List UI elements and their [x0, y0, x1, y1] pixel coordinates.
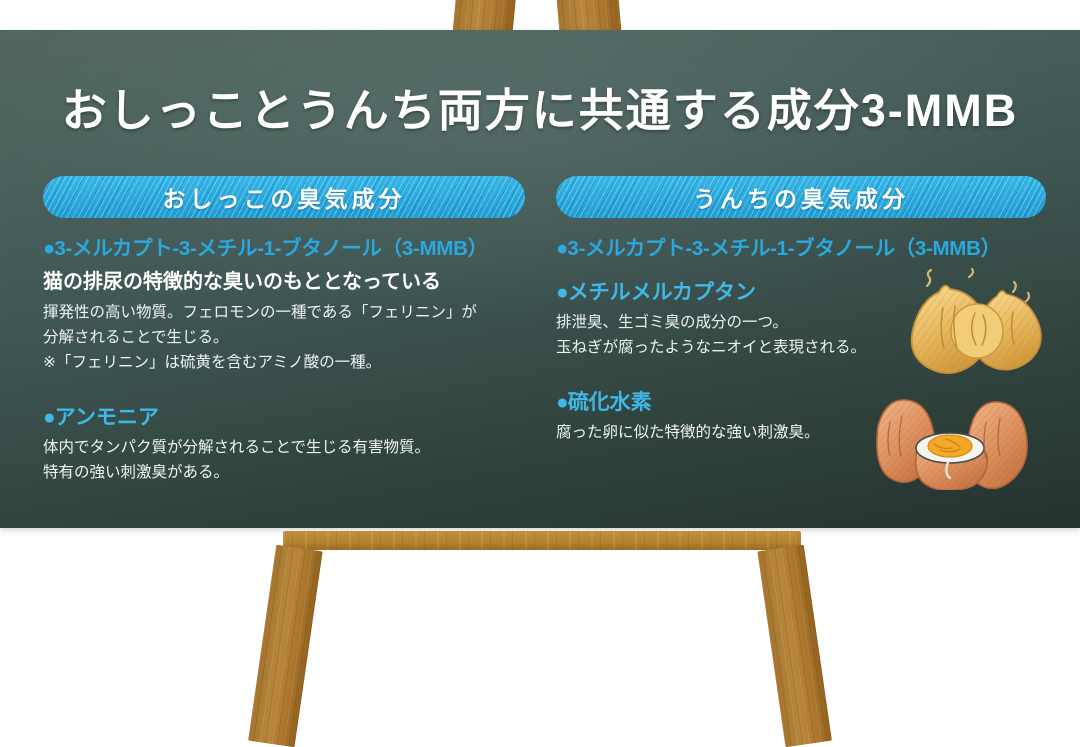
entry-urine-mmb-lede: 猫の排尿の特徴的な臭いのもととなっている — [43, 269, 525, 296]
banner-urine: おしっこの臭気成分 — [43, 176, 525, 218]
entry-feces-mmb: ●3-メルカプト-3-メチル-1-ブタノール（3-MMB） — [556, 236, 1046, 262]
entry-urine-mmb: ●3-メルカプト-3-メチル-1-ブタノール（3-MMB） 猫の排尿の特徴的な臭… — [43, 236, 525, 375]
banner-feces: うんちの臭気成分 — [556, 176, 1046, 218]
entry-urine-ammonia-name: アンモニア — [55, 406, 159, 429]
bullet-icon: ● — [43, 237, 54, 260]
entry-urine-mmb-title: ●3-メルカプト-3-メチル-1-ブタノール（3-MMB） — [43, 236, 525, 262]
bullet-icon: ● — [556, 281, 568, 304]
easel-crossbar — [283, 531, 801, 550]
entry-urine-mmb-name: 3-メルカプト-3-メチル-1-ブタノール（3-MMB） — [54, 237, 487, 260]
banner-feces-label: うんちの臭気成分 — [693, 180, 909, 214]
entry-feces-mmb-title: ●3-メルカプト-3-メチル-1-ブタノール（3-MMB） — [556, 236, 1046, 262]
easel-leg-right — [757, 545, 832, 747]
body-line: 特有の強い刺激臭がある。 — [43, 460, 525, 485]
body-line: 体内でタンパク質が分解されることで生じる有害物質。 — [43, 435, 525, 460]
bullet-icon: ● — [556, 237, 567, 260]
entry-feces-mmb-name: 3-メルカプト-3-メチル-1-ブタノール（3-MMB） — [567, 237, 1000, 260]
banner-urine-label: おしっこの臭気成分 — [163, 180, 406, 214]
bullet-icon: ● — [556, 391, 568, 414]
column-urine: おしっこの臭気成分 ●3-メルカプト-3-メチル-1-ブタノール（3-MMB） … — [43, 176, 525, 485]
infographic-canvas: おしっことうんち両方に共通する成分3-MMB おしっこの臭気成分 ●3-メルカプ… — [0, 0, 1080, 747]
entry-urine-ammonia-body: 体内でタンパク質が分解されることで生じる有害物質。 特有の強い刺激臭がある。 — [43, 435, 525, 485]
body-line: 分解されることで生じる。 — [43, 325, 525, 350]
bullet-icon: ● — [43, 406, 55, 429]
easel-leg-left — [248, 545, 323, 747]
chalkboard-panel: おしっことうんち両方に共通する成分3-MMB おしっこの臭気成分 ●3-メルカプ… — [0, 30, 1080, 528]
entry-urine-mmb-body: 揮発性の高い物質。フェロモンの一種である「フェリニン」が 分解されることで生じる… — [43, 300, 525, 375]
entry-urine-ammonia: ●アンモニア 体内でタンパク質が分解されることで生じる有害物質。 特有の強い刺激… — [43, 405, 525, 485]
entry-urine-ammonia-title: ●アンモニア — [43, 405, 525, 431]
page-title: おしっことうんち両方に共通する成分3-MMB — [0, 86, 1080, 136]
egg-illustration — [862, 392, 1034, 490]
entry-feces-mm-name: メチルメルカプタン — [568, 281, 756, 304]
body-line: 揮発性の高い物質。フェロモンの一種である「フェリニン」が — [43, 300, 525, 325]
entry-feces-h2s-name: 硫化水素 — [568, 391, 652, 414]
body-line: ※「フェリニン」は硫黄を含むアミノ酸の一種。 — [43, 350, 525, 375]
onion-illustration — [905, 268, 1045, 376]
